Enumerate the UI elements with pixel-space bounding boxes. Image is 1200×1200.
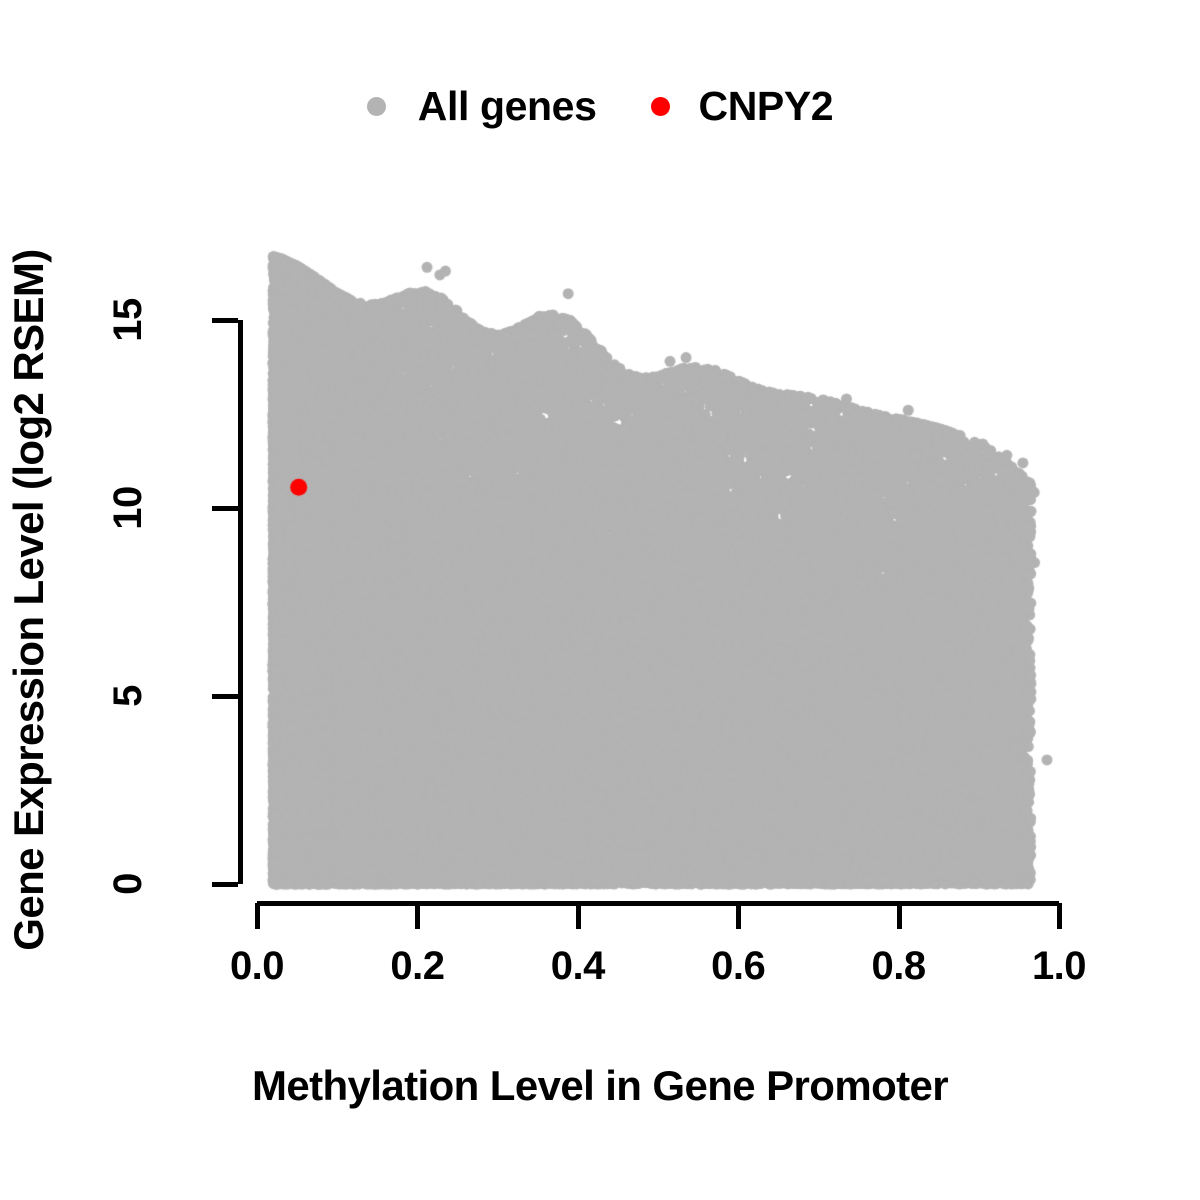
x-tick-mark	[415, 903, 420, 929]
scatter-points-canvas	[0, 0, 1200, 1200]
x-tick-mark	[897, 903, 902, 929]
y-tick-mark	[212, 694, 238, 699]
scatter-plot-figure: All genes CNPY2 0.00.20.40.60.81.0 05101…	[0, 0, 1200, 1200]
y-tick-label: 5	[104, 636, 152, 756]
y-tick-mark	[212, 318, 238, 323]
x-tick-label: 1.0	[999, 944, 1119, 989]
x-tick-label: 0.8	[839, 944, 959, 989]
x-tick-label: 0.6	[678, 944, 798, 989]
y-tick-mark	[212, 506, 238, 511]
x-tick-label: 0.0	[197, 944, 317, 989]
x-tick-mark	[255, 903, 260, 929]
x-tick-label: 0.2	[357, 944, 477, 989]
x-tick-label: 0.4	[518, 944, 638, 989]
y-axis-title: Gene Expression Level (log2 RSEM)	[0, 0, 58, 1200]
y-tick-label: 10	[104, 448, 152, 568]
x-tick-mark	[576, 903, 581, 929]
x-axis-title: Methylation Level in Gene Promoter	[0, 1062, 1200, 1110]
x-tick-mark	[736, 903, 741, 929]
x-axis-line	[257, 901, 1059, 906]
x-tick-mark	[1057, 903, 1062, 929]
y-tick-mark	[212, 882, 238, 887]
y-tick-label: 0	[104, 824, 152, 944]
y-tick-label: 15	[104, 260, 152, 380]
y-axis-line	[238, 320, 243, 884]
